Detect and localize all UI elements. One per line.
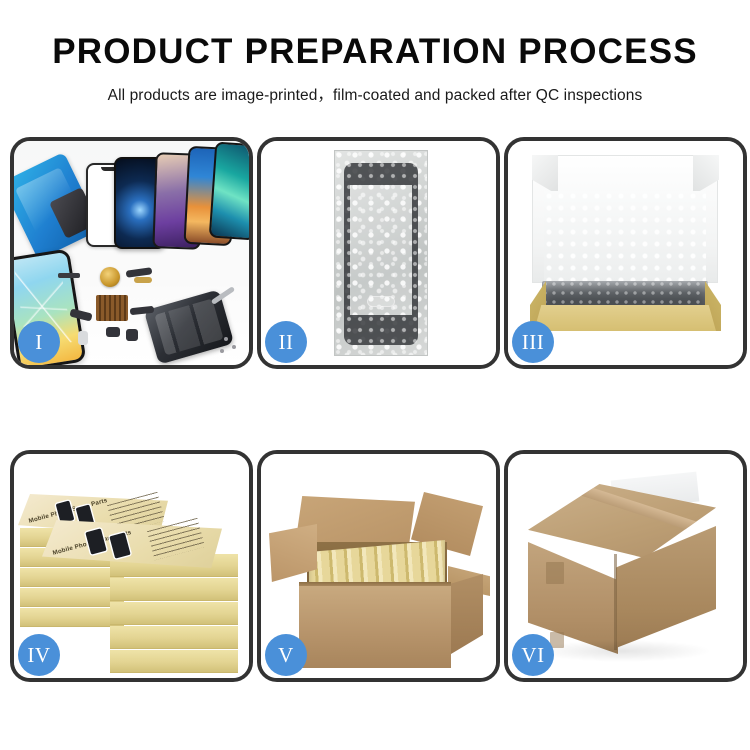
bubble-wrapped-screen-photo: [335, 151, 427, 355]
phone-screen-teal: [209, 142, 249, 241]
earpiece-speaker-part: [58, 273, 80, 278]
home-button: [367, 296, 395, 307]
step-panel-5: V: [257, 450, 500, 682]
chip-grid-part: [96, 295, 128, 321]
phone-back-housing: [144, 289, 234, 364]
screw-2: [232, 345, 236, 349]
step-panel-1: I: [10, 137, 253, 369]
step-panel-3: III: [504, 137, 747, 369]
box-front-panel: [534, 305, 716, 331]
step-panel-6: VI: [504, 450, 747, 682]
foam-padding: [544, 191, 706, 283]
vibration-motor-part: [126, 329, 138, 341]
step-badge-4: IV: [18, 634, 60, 676]
step-badge-5: V: [265, 634, 307, 676]
carton-front-panel: [299, 586, 451, 668]
product-preparation-infographic: PRODUCT PREPARATION PROCESS All products…: [0, 0, 750, 750]
screen-frame: [344, 163, 418, 345]
stacked-box-l5: [20, 608, 124, 626]
carton-corner-seam: [614, 554, 617, 650]
stacked-box-l4: [20, 588, 124, 606]
stacked-box-r5: [110, 650, 238, 672]
carton-tape-patch-top: [546, 562, 564, 584]
carton-shadow: [534, 640, 712, 662]
stacked-box-r2: [110, 578, 238, 600]
stacked-box-l3: [20, 568, 124, 586]
step-badge-2: II: [265, 321, 307, 363]
page-title: PRODUCT PREPARATION PROCESS: [0, 34, 750, 71]
steps-grid: I II: [10, 137, 740, 682]
step-badge-6: VI: [512, 634, 554, 676]
step-panel-2: II: [257, 137, 500, 369]
gold-connector-part: [134, 277, 152, 283]
copper-coil-part: [100, 267, 120, 287]
page-subtitle: All products are image-printed，film-coat…: [0, 83, 750, 105]
screw-3: [220, 349, 224, 353]
wrapped-screen-in-box: [542, 281, 708, 307]
camera-module-part: [106, 327, 120, 337]
step-badge-3: III: [512, 321, 554, 363]
sim-tray-part: [78, 331, 88, 345]
carton-side-panel: [451, 574, 483, 654]
step-panel-4: Mobile Phone Spare Parts Mobile Phone Sp…: [10, 450, 253, 682]
stacked-box-r4: [110, 626, 238, 648]
screw-1: [224, 337, 228, 341]
page-header: PRODUCT PREPARATION PROCESS All products…: [0, 0, 750, 105]
stacked-box-r3: [110, 602, 238, 624]
step-badge-1: I: [18, 321, 60, 363]
